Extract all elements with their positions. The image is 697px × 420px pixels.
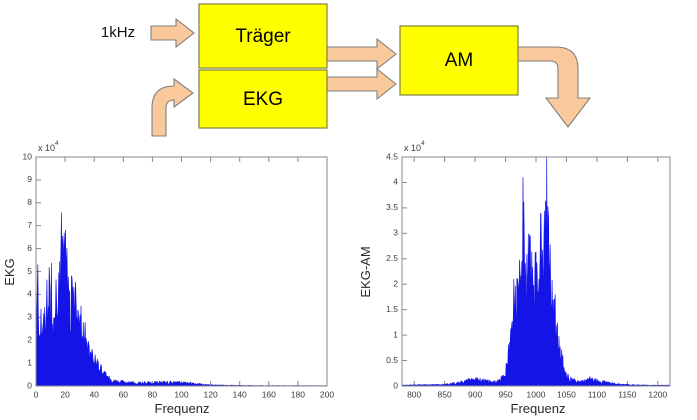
input-label: 1kHz xyxy=(101,24,135,41)
y-tick-label: 1 xyxy=(393,329,398,339)
y-tick-label: 9 xyxy=(27,174,32,184)
x-tick-label: 60 xyxy=(119,389,129,399)
x-tick-label: 120 xyxy=(204,389,218,399)
y-tick-label: 2.5 xyxy=(386,253,398,263)
x-tick-label: 1050 xyxy=(557,389,576,399)
x-tick-label: 900 xyxy=(468,389,482,399)
y-tick-label: 2 xyxy=(27,334,32,344)
y-tick-label: 2 xyxy=(393,278,398,288)
y-tick-label: 10 xyxy=(23,151,33,161)
y-tick-label: 4 xyxy=(27,289,32,299)
x-tick-label: 160 xyxy=(262,389,276,399)
block-ekg-label: EKG xyxy=(243,89,283,110)
x-tick-label: 850 xyxy=(438,389,452,399)
x-tick-label: 1100 xyxy=(588,389,607,399)
y-tick-label: 4.5 xyxy=(386,151,398,161)
y-tick-label: 8 xyxy=(27,197,32,207)
arrow-curved-into-ekg xyxy=(152,79,193,136)
y-tick-label: 1.5 xyxy=(386,304,398,314)
spectrum-charts: 012345678910020406080100120140160180200 … xyxy=(0,138,697,420)
y-tick-label: 3 xyxy=(27,312,32,322)
x-tick-label: 40 xyxy=(89,389,99,399)
x-tick-label: 200 xyxy=(320,389,334,399)
chart-ekg-am-spectrum: 00.511.522.533.544.580085090095010001050… xyxy=(348,138,697,420)
y-tick-label: 6 xyxy=(27,243,32,253)
spectrum-trace xyxy=(402,157,670,386)
y-tick-label: 4 xyxy=(393,177,398,187)
y-axis-title-right: EKG-AM xyxy=(358,246,373,297)
arrow-ekg-to-am xyxy=(327,69,396,99)
x-tick-label: 1000 xyxy=(527,389,546,399)
y-tick-label: 5 xyxy=(27,266,32,276)
y-axis-multiplier-left: x 104 xyxy=(38,140,59,154)
x-tick-label: 180 xyxy=(291,389,305,399)
x-tick-label: 20 xyxy=(60,389,70,399)
x-tick-label: 140 xyxy=(233,389,247,399)
x-tick-label: 1150 xyxy=(618,389,637,399)
x-tick-label: 0 xyxy=(34,389,39,399)
block-am-label: AM xyxy=(445,50,474,71)
y-axis-title-left: EKG xyxy=(2,258,17,285)
x-tick-label: 80 xyxy=(148,389,158,399)
y-tick-label: 3.5 xyxy=(386,202,398,212)
arrow-am-output xyxy=(517,47,590,127)
y-tick-label: 1 xyxy=(27,357,32,367)
chart-ekg-spectrum: 012345678910020406080100120140160180200 … xyxy=(0,138,348,420)
y-tick-label: 0 xyxy=(393,380,398,390)
x-axis-title-left: Frequenz xyxy=(155,401,210,416)
x-tick-label: 800 xyxy=(407,389,421,399)
block-traeger-label: Träger xyxy=(235,26,291,47)
spectrum-trace xyxy=(36,212,327,386)
arrow-traeger-to-am xyxy=(327,39,396,69)
arrow-input-to-traeger xyxy=(151,19,194,47)
y-tick-label: 0.5 xyxy=(386,355,398,365)
y-tick-label: 7 xyxy=(27,220,32,230)
x-tick-label: 950 xyxy=(498,389,512,399)
block-diagram: Träger EKG AM 1kHz xyxy=(0,0,697,140)
x-axis-title-right: Frequenz xyxy=(511,401,566,416)
y-axis-multiplier-right: x 104 xyxy=(404,140,425,154)
x-tick-label: 1200 xyxy=(648,389,667,399)
y-tick-label: 3 xyxy=(393,228,398,238)
y-tick-label: 0 xyxy=(27,380,32,390)
x-tick-label: 100 xyxy=(174,389,188,399)
